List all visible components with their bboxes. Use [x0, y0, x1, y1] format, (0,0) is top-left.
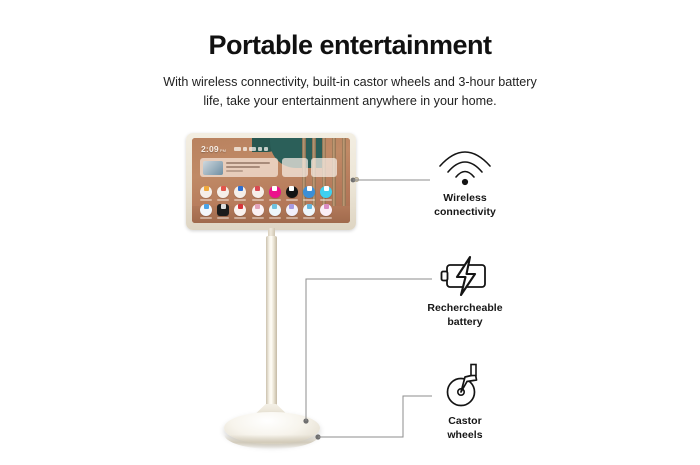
callout-castor: Castor wheels [390, 363, 540, 442]
callout-castor-label: Castor wheels [390, 415, 540, 442]
callout-castor-label-line1: Castor [448, 415, 482, 427]
callout-wireless-label-line2: connectivity [434, 206, 496, 218]
castor-wheel-icon [390, 363, 540, 409]
callout-wireless-label: Wireless connectivity [390, 192, 540, 219]
wifi-icon [390, 140, 540, 186]
callout-castor-label-line2: wheels [447, 429, 482, 441]
callout-wireless-label-line1: Wireless [443, 192, 487, 204]
battery-charging-icon [390, 250, 540, 296]
callout-battery: Rechercheable battery [390, 250, 540, 329]
callout-wireless: Wireless connectivity [390, 140, 540, 219]
product-illustration: 2:09PM [0, 0, 700, 465]
callout-battery-label-line1: Rechercheable [427, 302, 502, 314]
callout-battery-label-line2: battery [447, 316, 482, 328]
leader-lines [0, 0, 700, 465]
callout-battery-label: Rechercheable battery [390, 302, 540, 329]
